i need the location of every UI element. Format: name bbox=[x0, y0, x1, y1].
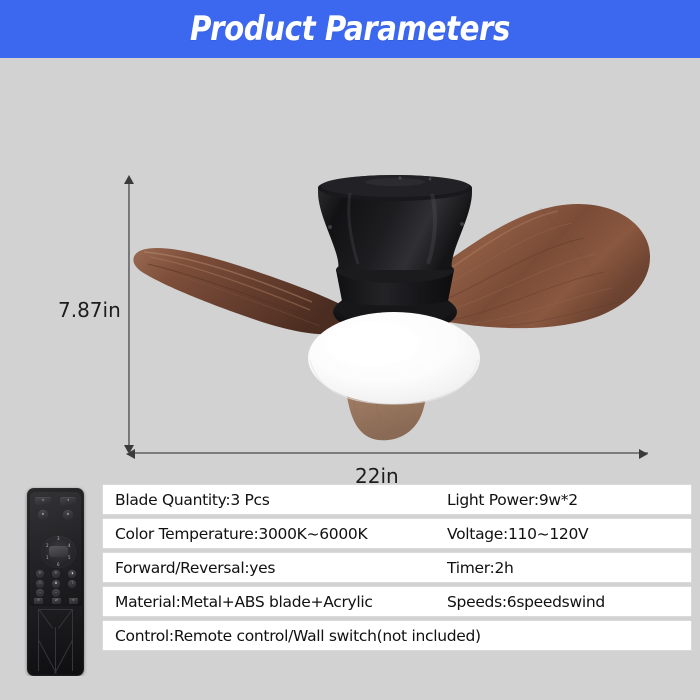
remote-bracket-line bbox=[55, 627, 56, 671]
remote-bracket-line bbox=[58, 609, 73, 629]
page-title: Product Parameters bbox=[190, 9, 510, 49]
remote-speed-down-button: – bbox=[52, 589, 60, 597]
color-temp-icon: ◑ bbox=[68, 570, 76, 578]
spec-table: Blade Quantity:3 Pcs Light Power:9w*2 Co… bbox=[103, 485, 691, 655]
table-row: Color Temperature:3000K~6000K Voltage:11… bbox=[103, 519, 691, 548]
spec-timer: Timer:2h bbox=[447, 559, 514, 577]
moon-icon: ☽ bbox=[68, 580, 76, 588]
remote-light-mode-button: ☉ bbox=[36, 580, 44, 588]
spec-voltage: Voltage:110~120V bbox=[447, 525, 588, 543]
speed-number-3: 3 bbox=[57, 537, 60, 541]
dimension-height-label: 7.87in bbox=[58, 298, 121, 322]
speed-number-6: 6 bbox=[57, 563, 60, 567]
remote-fan-right-button: ✻ bbox=[63, 510, 73, 520]
remote-control-image: ⏻ ☀ ✻ ✻ 3 2 4 1 5 6 + + ◑ ☉ ✽ ☽ – – ⏱ bbox=[27, 488, 84, 676]
speed-number-2: 2 bbox=[46, 544, 49, 548]
table-row: Control:Remote control/Wall switch(not i… bbox=[103, 621, 691, 650]
fan-icon: ✻ bbox=[63, 510, 73, 520]
dimension-arrow-left-icon bbox=[126, 449, 135, 459]
spec-light-power: Light Power:9w*2 bbox=[447, 491, 578, 509]
minus-icon: – bbox=[52, 589, 60, 597]
remote-bracket-line bbox=[38, 609, 73, 610]
remote-light-button: ☀ bbox=[60, 497, 76, 505]
speed-number-5: 5 bbox=[68, 556, 71, 560]
bottom-strip bbox=[0, 676, 700, 700]
dimension-arrow-right-icon bbox=[639, 449, 648, 459]
power-icon: ⏻ bbox=[35, 497, 51, 505]
bulb-icon: ☀ bbox=[60, 497, 76, 505]
remote-fan-mode-button: ✽ bbox=[52, 580, 60, 588]
ceiling-fan-illustration bbox=[0, 58, 700, 468]
spec-speeds: Speeds:6speedswind bbox=[447, 593, 605, 611]
remote-night-mode-button: ☽ bbox=[68, 580, 76, 588]
sun-icon: ☉ bbox=[36, 580, 44, 588]
remote-speed-dial: 3 2 4 1 5 6 bbox=[41, 536, 76, 568]
speed-number-1: 1 bbox=[46, 556, 49, 560]
dimension-arrow-up-icon bbox=[124, 175, 134, 184]
remote-fan-left-button: ✻ bbox=[38, 510, 48, 520]
spec-material: Material:Metal+ABS blade+Acrylic bbox=[115, 593, 373, 611]
remote-color-temp-button: ◑ bbox=[68, 570, 76, 578]
remote-bracket-line bbox=[38, 640, 57, 674]
remote-speed-up-button: + bbox=[52, 570, 60, 578]
speed-number-4: 4 bbox=[68, 544, 71, 548]
plus-icon: + bbox=[36, 570, 44, 578]
remote-button-panel: ⏻ ☀ ✻ ✻ 3 2 4 1 5 6 + + ◑ ☉ ✽ ☽ – – ⏱ bbox=[30, 492, 81, 604]
table-row: Material:Metal+ABS blade+Acrylic Speeds:… bbox=[103, 587, 691, 616]
fan-icon: ✻ bbox=[38, 510, 48, 520]
table-row: Forward/Reversal:yes Timer:2h bbox=[103, 553, 691, 582]
remote-bracket-line bbox=[54, 640, 73, 674]
remote-reverse-button: ⇄ bbox=[52, 598, 61, 604]
timer-icon: ⏱ bbox=[34, 598, 43, 604]
reverse-icon: ⇄ bbox=[52, 598, 61, 604]
wind-icon: ≈ bbox=[69, 598, 78, 604]
product-figure: 7.87in 22in bbox=[0, 58, 700, 468]
remote-brightness-down-button: – bbox=[36, 589, 44, 597]
remote-speed-center-button bbox=[49, 546, 68, 557]
table-row: Blade Quantity:3 Pcs Light Power:9w*2 bbox=[103, 485, 691, 514]
fan-icon: ✽ bbox=[52, 580, 60, 588]
dimension-line-vertical bbox=[128, 178, 130, 454]
remote-natural-wind-button: ≈ bbox=[69, 598, 78, 604]
remote-bracket-line bbox=[38, 608, 53, 628]
remote-lower-body bbox=[29, 606, 82, 674]
plus-icon: + bbox=[52, 570, 60, 578]
spec-forward-reversal: Forward/Reversal:yes bbox=[115, 559, 275, 577]
remote-onoff-button: ⏻ bbox=[35, 497, 51, 505]
spec-color-temperature: Color Temperature:3000K~6000K bbox=[115, 525, 367, 543]
spec-blade-quantity: Blade Quantity:3 Pcs bbox=[115, 491, 270, 509]
dimension-line-horizontal bbox=[128, 452, 648, 454]
spec-control: Control:Remote control/Wall switch(not i… bbox=[115, 627, 481, 645]
remote-timer-button: ⏱ bbox=[34, 598, 43, 604]
remote-brightness-up-button: + bbox=[36, 570, 44, 578]
minus-icon: – bbox=[36, 589, 44, 597]
header-banner: Product Parameters bbox=[0, 0, 700, 58]
